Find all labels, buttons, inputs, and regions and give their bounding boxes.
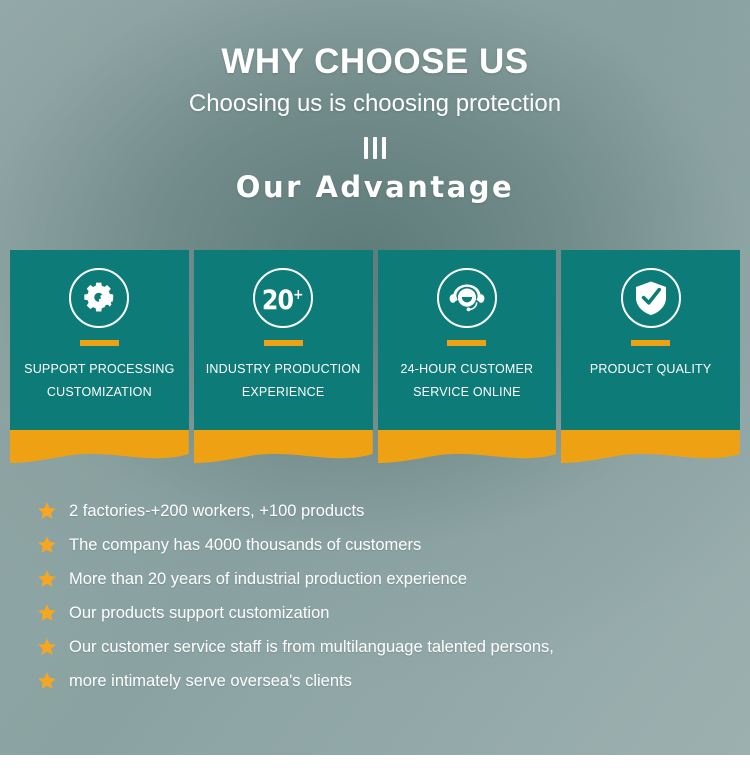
tick-mark: [373, 137, 377, 159]
list-item: The company has 4000 thousands of custom…: [36, 528, 726, 562]
page-subtitle: Choosing us is choosing protection: [0, 89, 750, 119]
twenty-plus-badge-icon: 20+: [253, 268, 313, 328]
feature-card-24h-service[interactable]: 24-HOUR CUSTOMER SERVICE ONLINE: [378, 250, 557, 465]
star-icon: [36, 636, 58, 658]
list-item-text: 2 factories-+200 workers, +100 products: [69, 500, 364, 522]
card-wave-footer: [10, 430, 189, 465]
headset-support-icon: [437, 268, 497, 328]
star-icon: [36, 670, 58, 692]
star-icon: [36, 500, 58, 522]
card-accent-rule: [264, 340, 303, 346]
star-icon: [36, 568, 58, 590]
badge-number-suffix: +: [294, 287, 304, 303]
badge-number-value: 20: [262, 285, 293, 316]
card-accent-rule: [80, 340, 119, 346]
card-body: SUPPORT PROCESSING CUSTOMIZATION: [10, 250, 189, 430]
list-item-text: The company has 4000 thousands of custom…: [69, 534, 421, 556]
list-item: More than 20 years of industrial product…: [36, 562, 726, 596]
list-item-text: More than 20 years of industrial product…: [69, 568, 467, 590]
list-item-text: Our customer service staff is from multi…: [69, 636, 554, 658]
list-item-text: Our products support customization: [69, 602, 329, 624]
card-body: 20+ INDUSTRY PRODUCTION EXPERIENCE: [194, 250, 373, 430]
feature-card-row: SUPPORT PROCESSING CUSTOMIZATION 20+ IND…: [10, 250, 740, 465]
feature-card-support-processing[interactable]: SUPPORT PROCESSING CUSTOMIZATION: [10, 250, 189, 465]
three-vertical-ticks-icon: [0, 137, 750, 159]
advantages-list: 2 factories-+200 workers, +100 products …: [36, 494, 726, 698]
why-choose-us-banner: WHY CHOOSE US Choosing us is choosing pr…: [0, 0, 750, 777]
card-wave-footer: [378, 430, 557, 465]
card-accent-rule: [447, 340, 486, 346]
card-accent-rule: [631, 340, 670, 346]
star-icon: [36, 602, 58, 624]
card-label: SUPPORT PROCESSING CUSTOMIZATION: [14, 358, 186, 404]
list-item: more intimately serve oversea's clients: [36, 664, 726, 698]
list-item: Our customer service staff is from multi…: [36, 630, 726, 664]
feature-card-product-quality[interactable]: PRODUCT QUALITY: [561, 250, 740, 465]
badge-number: 20+: [262, 282, 304, 314]
headline-block: WHY CHOOSE US Choosing us is choosing pr…: [0, 40, 750, 206]
list-item-text: more intimately serve oversea's clients: [69, 670, 352, 692]
list-item: 2 factories-+200 workers, +100 products: [36, 494, 726, 528]
star-icon: [36, 534, 58, 556]
card-wave-footer: [561, 430, 740, 465]
feature-card-industry-production[interactable]: 20+ INDUSTRY PRODUCTION EXPERIENCE: [194, 250, 373, 465]
tick-mark: [382, 137, 386, 159]
list-item: Our products support customization: [36, 596, 726, 630]
tick-mark: [364, 137, 368, 159]
card-body: PRODUCT QUALITY: [561, 250, 740, 430]
card-label: PRODUCT QUALITY: [565, 358, 737, 381]
gears-icon: [69, 268, 129, 328]
page-title: WHY CHOOSE US: [0, 40, 750, 84]
card-label: 24-HOUR CUSTOMER SERVICE ONLINE: [381, 358, 553, 404]
card-body: 24-HOUR CUSTOMER SERVICE ONLINE: [378, 250, 557, 430]
shield-check-icon: [621, 268, 681, 328]
section-title: Our Advantage: [0, 168, 750, 206]
card-label: INDUSTRY PRODUCTION EXPERIENCE: [197, 358, 369, 404]
card-wave-footer: [194, 430, 373, 465]
